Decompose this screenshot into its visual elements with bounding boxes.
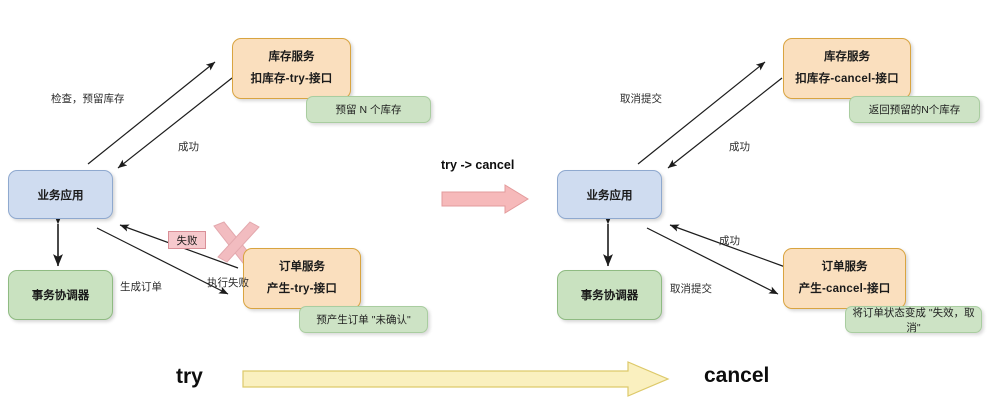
left-edge-label-check-reserve-stock: 检查，预留库存: [51, 91, 125, 106]
diagram-canvas: 业务应用 事务协调器 库存服务 扣库存-try-接口 预留 N 个库存 订单服务…: [0, 0, 1000, 405]
right-inventory-service-title: 库存服务: [824, 51, 870, 64]
left-inventory-service-note: 预留 N 个库存: [306, 96, 431, 123]
phase-progress-arrow: [243, 362, 668, 396]
phase-caption-try: try: [176, 365, 203, 389]
right-order-service-note: 将订单状态变成 "失效，取消": [845, 306, 982, 333]
left-edge-text-1: 成功: [178, 141, 199, 153]
right-edge-text-0: 取消提交: [620, 93, 662, 105]
left-inventory-service-note-text: 预留 N 个库存: [336, 102, 402, 117]
right-edge-text-3: 取消提交: [670, 283, 712, 295]
right-edge-label-stock-cancel-success: 成功: [729, 139, 750, 154]
right-inventory-service-note-text: 返回预留的N个库存: [869, 102, 961, 117]
right-order-service-note-text: 将订单状态变成 "失效，取消": [852, 305, 975, 335]
right-edge-label-order-cancel-success: 成功: [719, 233, 740, 248]
transition-caption: try -> cancel: [441, 158, 514, 172]
phase-caption-cancel-text: cancel: [704, 364, 769, 387]
left-edge-text-3: 执行失败: [207, 277, 249, 289]
left-inventory-service-api: 扣库存-try-接口: [251, 73, 333, 86]
right-transaction-coordinator-node[interactable]: 事务协调器: [557, 270, 662, 320]
left-business-app-node[interactable]: 业务应用: [8, 170, 113, 219]
right-business-app-label: 业务应用: [587, 187, 633, 203]
left-order-service-note-text: 预产生订单 "未确认": [316, 312, 410, 327]
left-transaction-coordinator-node[interactable]: 事务协调器: [8, 270, 113, 320]
right-edge-label-cancel-commit-order: 取消提交: [670, 281, 712, 296]
left-edge-text-0: 检查，预留库存: [51, 93, 125, 105]
right-edge-label-cancel-commit-stock: 取消提交: [620, 91, 662, 106]
phase-caption-cancel: cancel: [704, 364, 769, 388]
right-business-app-node[interactable]: 业务应用: [557, 170, 662, 219]
left-order-service-title: 订单服务: [279, 261, 325, 274]
left-edge-text-2: 生成订单: [120, 281, 162, 293]
left-edge-label-execute-failed: 执行失败: [207, 275, 249, 290]
right-edge-text-1: 成功: [729, 141, 750, 153]
left-inventory-service-title: 库存服务: [269, 51, 315, 64]
left-edge-label-stock-success: 成功: [178, 139, 199, 154]
left-edge-label-create-order: 生成订单: [120, 279, 162, 294]
phase-caption-try-text: try: [176, 365, 203, 388]
left-order-service-note: 预产生订单 "未确认": [299, 306, 428, 333]
right-order-service-title: 订单服务: [822, 261, 868, 274]
arrow-right-inventory-to-app: [668, 78, 782, 168]
left-failure-badge-text: 失败: [177, 233, 198, 248]
right-inventory-service-note: 返回预留的N个库存: [849, 96, 980, 123]
left-transaction-coordinator-label: 事务协调器: [32, 287, 90, 303]
arrow-left-inventory-to-app: [118, 78, 232, 168]
right-transaction-coordinator-label: 事务协调器: [581, 287, 639, 303]
arrow-right-app-to-order: [647, 228, 778, 294]
transition-caption-text: try -> cancel: [441, 158, 514, 172]
right-order-service-node[interactable]: 订单服务 产生-cancel-接口: [783, 248, 906, 309]
right-inventory-service-node[interactable]: 库存服务 扣库存-cancel-接口: [783, 38, 911, 99]
left-inventory-service-node[interactable]: 库存服务 扣库存-try-接口: [232, 38, 351, 99]
left-failure-badge: 失败: [168, 231, 206, 249]
left-order-service-api: 产生-try-接口: [267, 283, 337, 296]
transition-arrow-try-to-cancel: [442, 185, 528, 213]
left-business-app-label: 业务应用: [38, 187, 84, 203]
right-inventory-service-api: 扣库存-cancel-接口: [795, 73, 899, 86]
right-order-service-api: 产生-cancel-接口: [799, 283, 891, 296]
right-edge-text-2: 成功: [719, 235, 740, 247]
left-order-service-node[interactable]: 订单服务 产生-try-接口: [243, 248, 361, 309]
